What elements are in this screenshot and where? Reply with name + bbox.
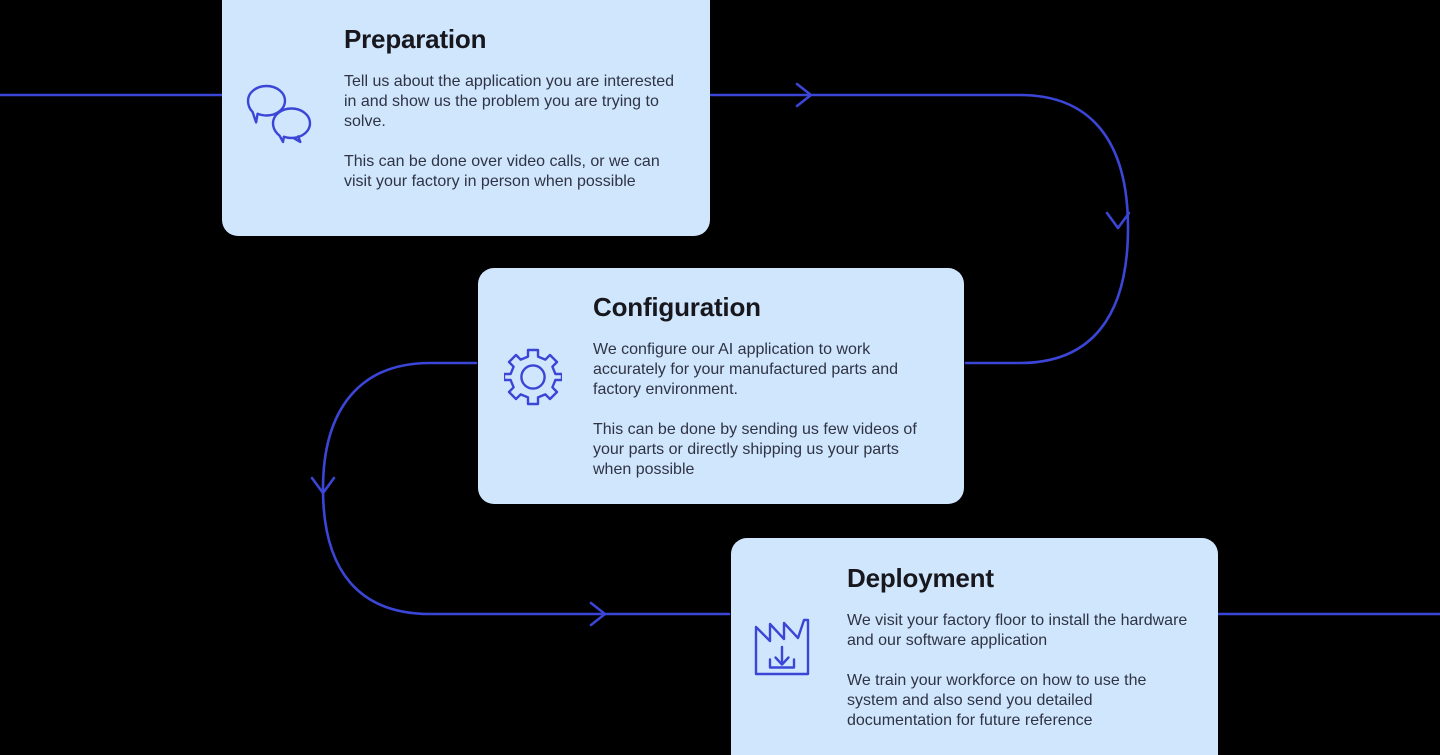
step-card-deployment: Deployment We visit your factory floor t… <box>731 538 1218 755</box>
step-paragraph: This can be done by sending us few video… <box>593 420 938 480</box>
arrowhead-right-bottom <box>591 603 605 625</box>
step-paragraph: We visit your factory floor to install t… <box>847 611 1192 651</box>
step-body-preparation: Tell us about the application you are in… <box>344 72 674 192</box>
step-card-preparation: Preparation Tell us about the applicatio… <box>222 0 710 236</box>
gear-icon <box>504 348 562 411</box>
step-paragraph: We train your workforce on how to use th… <box>847 671 1192 731</box>
step-title-configuration: Configuration <box>593 292 761 323</box>
step-card-configuration: Configuration We configure our AI applic… <box>478 268 964 504</box>
arrowhead-right-top <box>797 84 811 106</box>
factory-download-icon <box>753 618 813 681</box>
arrowhead-down-left <box>312 478 334 493</box>
flow-diagram-canvas: Preparation Tell us about the applicatio… <box>0 0 1440 755</box>
step-title-preparation: Preparation <box>344 24 486 55</box>
step-paragraph: This can be done over video calls, or we… <box>344 152 674 192</box>
step-paragraph: Tell us about the application you are in… <box>344 72 674 132</box>
step-body-configuration: We configure our AI application to work … <box>593 340 938 480</box>
step-title-deployment: Deployment <box>847 563 994 594</box>
step-paragraph: We configure our AI application to work … <box>593 340 938 400</box>
speech-bubbles-icon <box>242 82 322 151</box>
step-body-deployment: We visit your factory floor to install t… <box>847 611 1192 731</box>
arrowhead-down-right <box>1107 213 1129 228</box>
